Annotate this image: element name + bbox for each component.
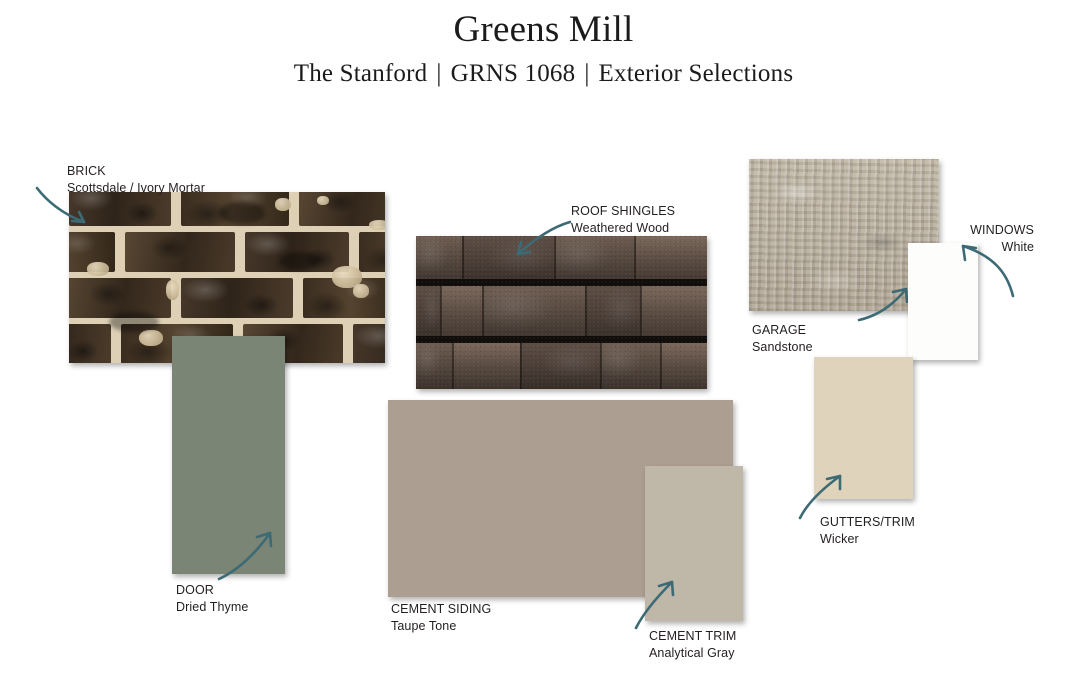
- label-windows: WINDOWS White: [879, 222, 1034, 255]
- swatch-cement-trim: [645, 466, 743, 621]
- label-brick: BRICK Scottsdale / Ivory Mortar: [67, 163, 205, 196]
- subtitle-separator-2: |: [575, 60, 598, 87]
- label-cement-siding: CEMENT SIDING Taupe Tone: [391, 601, 491, 634]
- swatch-windows: [908, 243, 978, 360]
- label-garage: GARAGE Sandstone: [752, 322, 813, 355]
- label-door-value: Dried Thyme: [176, 599, 248, 616]
- page-header: Greens Mill The Stanford|GRNS 1068|Exter…: [0, 8, 1087, 90]
- label-cement-trim-title: CEMENT TRIM: [649, 628, 736, 645]
- page-subtitle: The Stanford|GRNS 1068|Exterior Selectio…: [0, 58, 1087, 90]
- roof-granule-texture: [416, 236, 707, 389]
- subtitle-plan-name: The Stanford: [294, 60, 428, 87]
- label-gutters-trim-value: Wicker: [820, 531, 915, 548]
- label-cement-trim: CEMENT TRIM Analytical Gray: [649, 628, 736, 661]
- selection-board: Greens Mill The Stanford|GRNS 1068|Exter…: [0, 0, 1087, 683]
- label-windows-value: White: [879, 239, 1034, 256]
- subtitle-separator-1: |: [427, 60, 450, 87]
- swatch-roof-shingles: [416, 236, 707, 389]
- label-garage-value: Sandstone: [752, 339, 813, 356]
- label-cement-trim-value: Analytical Gray: [649, 645, 736, 662]
- label-windows-title: WINDOWS: [879, 222, 1034, 239]
- label-garage-title: GARAGE: [752, 322, 813, 339]
- label-door: DOOR Dried Thyme: [176, 582, 248, 615]
- label-gutters-trim: GUTTERS/TRIM Wicker: [820, 514, 915, 547]
- swatch-door: [172, 336, 285, 574]
- subtitle-lot-code: GRNS 1068: [451, 60, 576, 87]
- label-gutters-trim-title: GUTTERS/TRIM: [820, 514, 915, 531]
- subtitle-section: Exterior Selections: [599, 60, 794, 87]
- page-title: Greens Mill: [0, 8, 1087, 52]
- label-cement-siding-value: Taupe Tone: [391, 618, 491, 635]
- label-roof-shingles: ROOF SHINGLES Weathered Wood: [571, 203, 675, 236]
- swatch-gutters-trim: [814, 357, 913, 499]
- label-door-title: DOOR: [176, 582, 248, 599]
- label-brick-title: BRICK: [67, 163, 205, 180]
- label-roof-shingles-title: ROOF SHINGLES: [571, 203, 675, 220]
- label-cement-siding-title: CEMENT SIDING: [391, 601, 491, 618]
- label-brick-value: Scottsdale / Ivory Mortar: [67, 180, 205, 197]
- label-roof-shingles-value: Weathered Wood: [571, 220, 675, 237]
